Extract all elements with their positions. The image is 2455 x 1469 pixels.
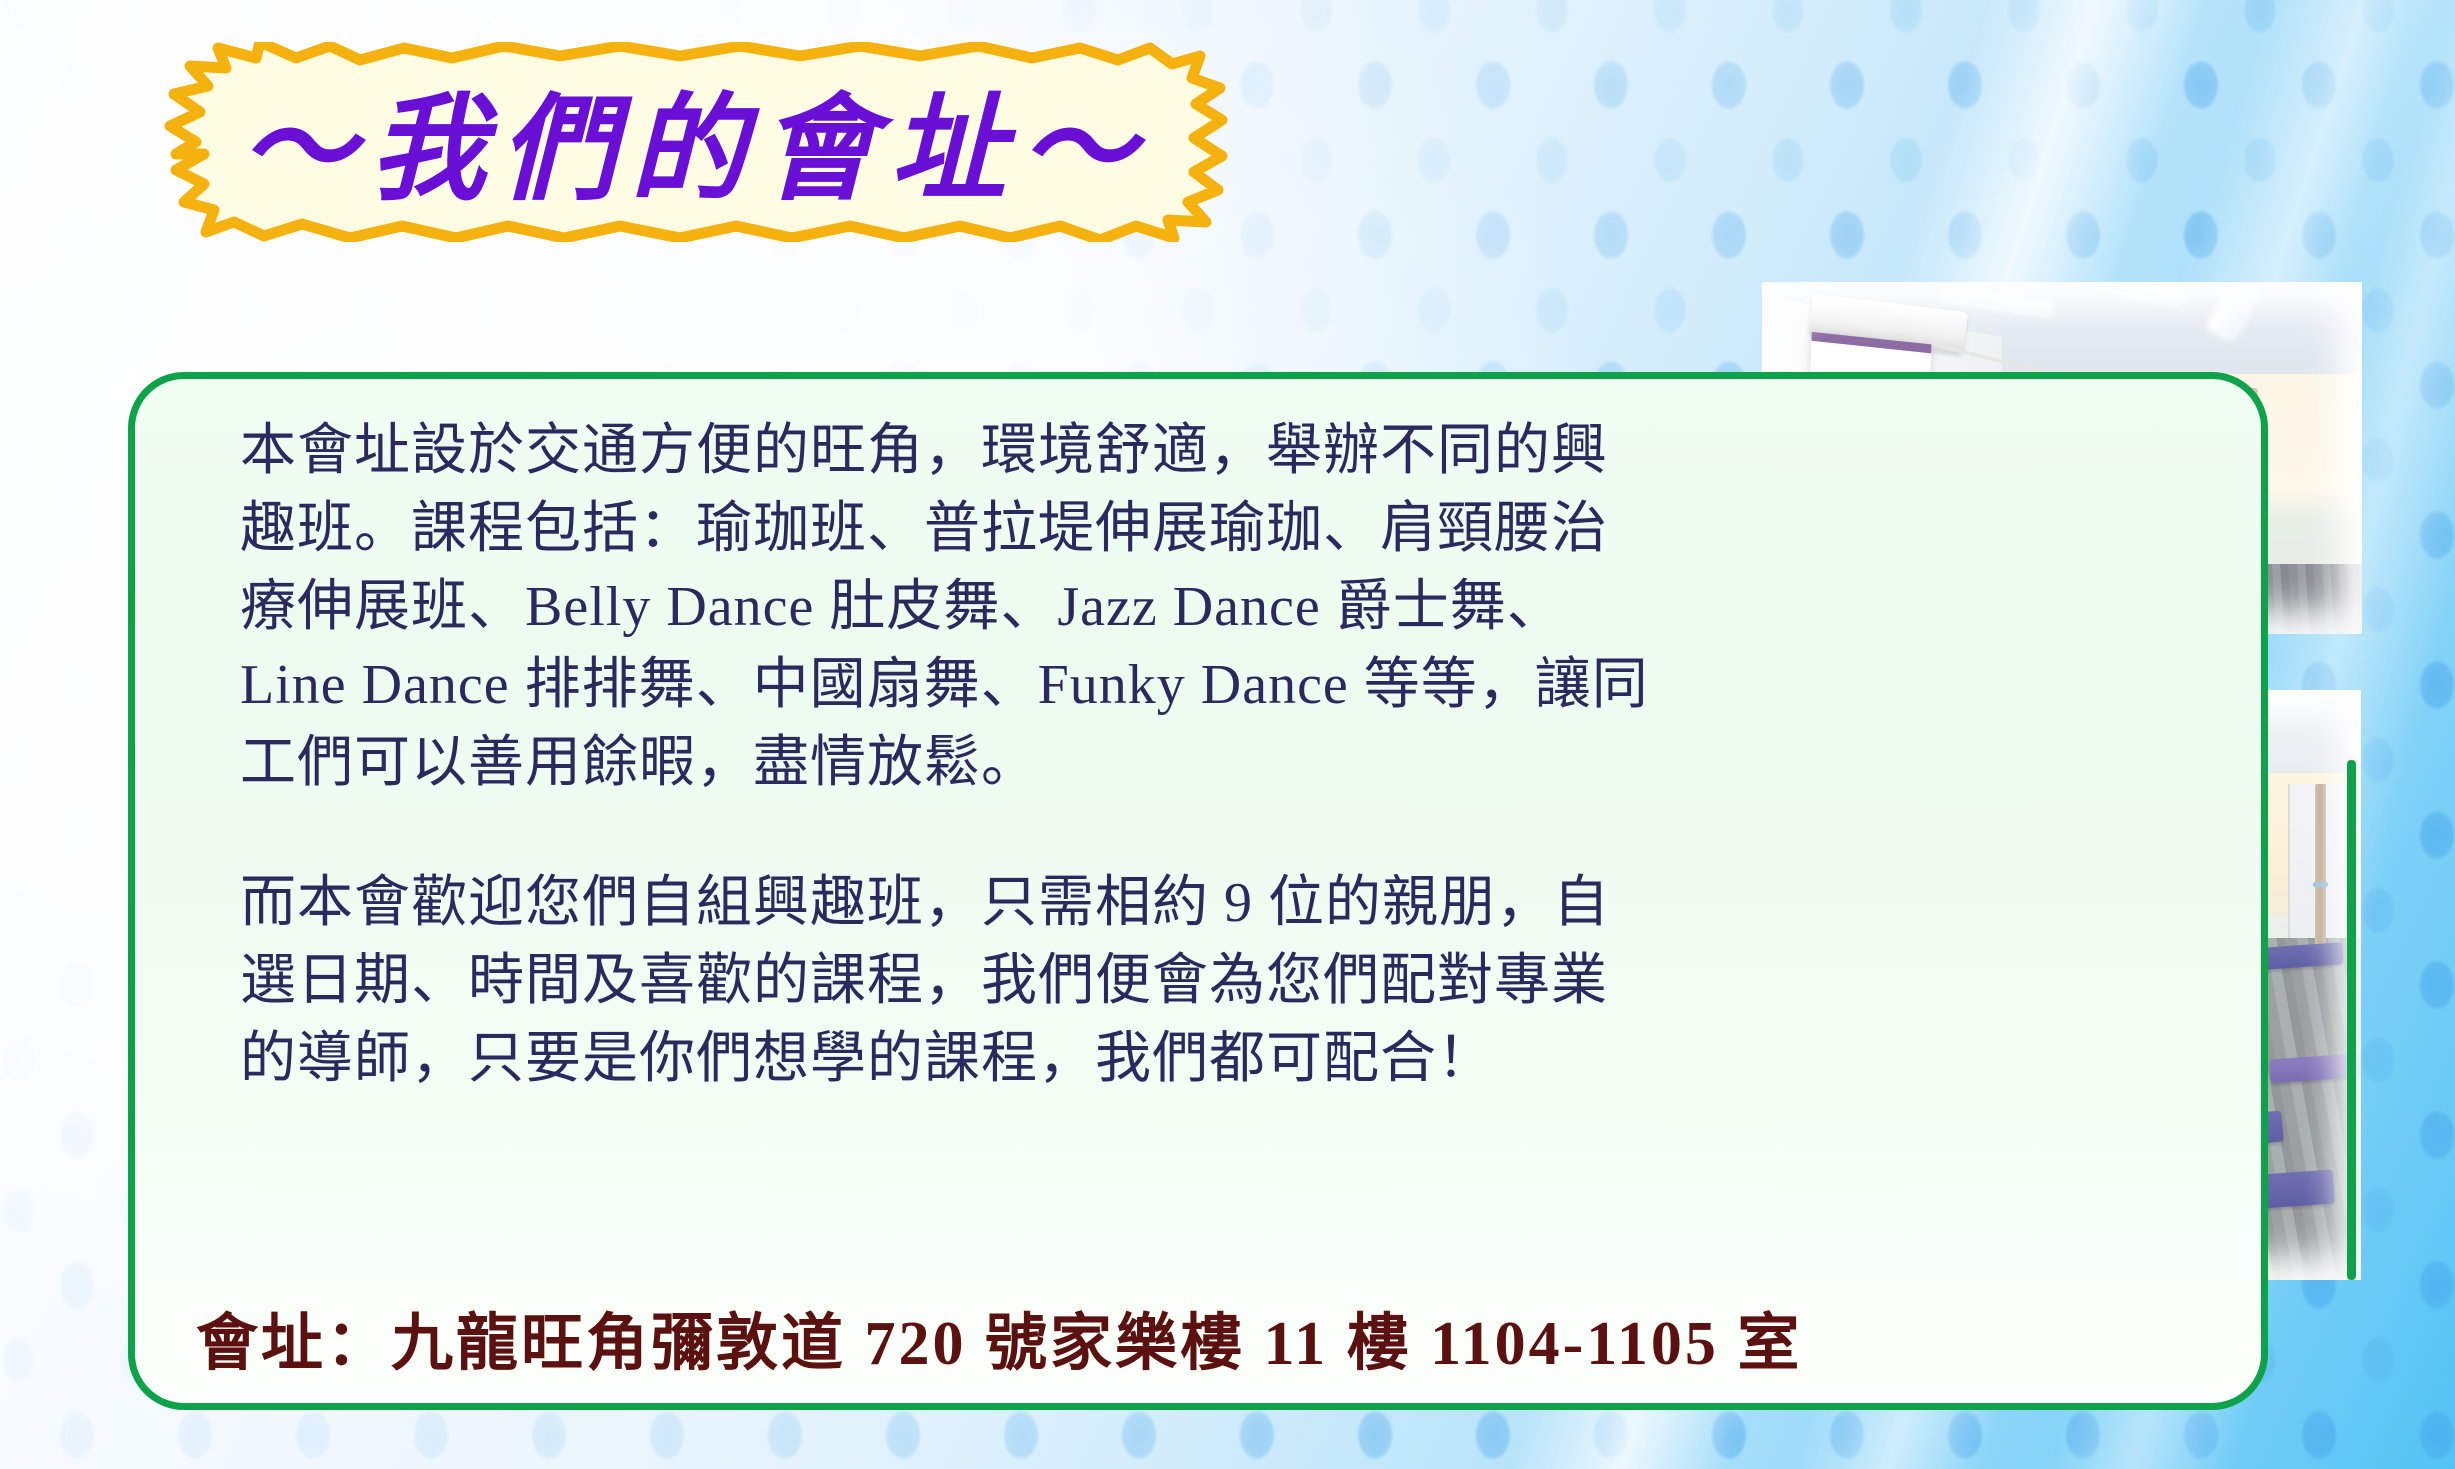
panel-right-edge-accent (2347, 760, 2356, 1280)
title-banner: ～我們的會址～ (160, 42, 1230, 242)
page-title: ～我們的會址～ (160, 42, 1230, 242)
address-line: 會址：九龍旺角彌敦道 720 號家樂樓 11 樓 1104-1105 室 (196, 1292, 1996, 1382)
body-copy: 本會址設於交通方便的旺角，環境舒適，舉辦不同的興趣班。課程包括：瑜珈班、普拉堤伸… (240, 412, 1660, 1098)
body-paragraph-2: 而本會歡迎您們自組興趣班，只需相約 9 位的親朋，自選日期、時間及喜歡的課程，我… (240, 864, 1660, 1098)
body-paragraph-1: 本會址設於交通方便的旺角，環境舒適，舉辦不同的興趣班。課程包括：瑜珈班、普拉堤伸… (240, 412, 1660, 802)
slide-root: ～我們的會址～ 香港女教師協會 Hong Kong Women Teache (0, 0, 2455, 1469)
